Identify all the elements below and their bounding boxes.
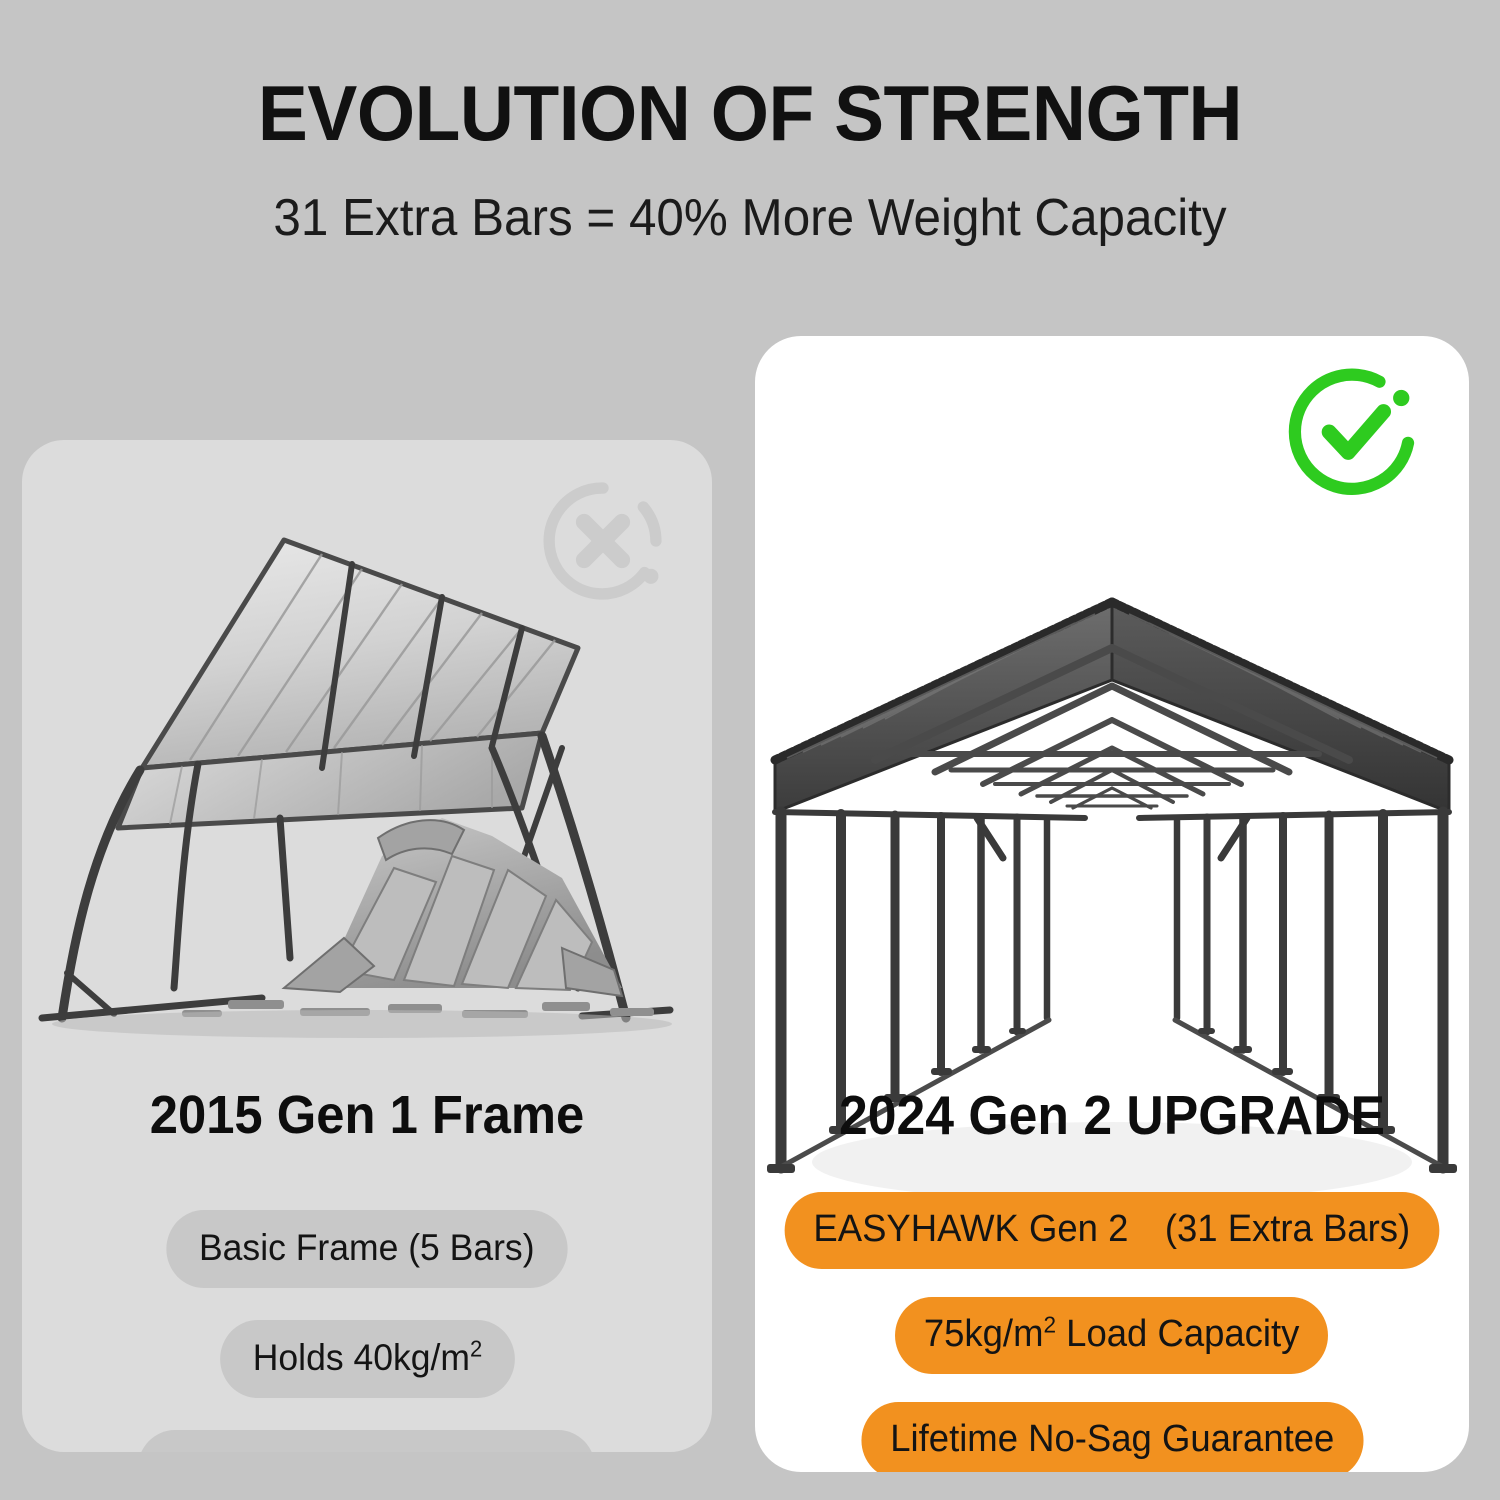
feature-chip: EASYHAWK Gen 2 (31 Extra Bars) [785, 1192, 1439, 1269]
panel-title-gen2: 2024 Gen 2 UPGRADE [776, 1088, 1447, 1143]
comparison-card-gen1: 2015 Gen 1 Frame Basic Frame (5 Bars) Ho… [22, 440, 712, 1452]
page-subtitle: 31 Extra Bars = 40% More Weight Capacity [38, 192, 1463, 244]
comparison-card-gen2: 2024 Gen 2 UPGRADE EASYHAWK Gen 2 (31 Ex… [755, 336, 1469, 1472]
feature-chip: Basic Frame (5 Bars) [167, 1210, 568, 1288]
page-header: EVOLUTION OF STRENGTH 31 Extra Bars = 40… [0, 0, 1500, 244]
check-circle-icon [1287, 364, 1423, 500]
feature-chip: Holds 40kg/m2 [220, 1320, 515, 1398]
feature-chip: 75kg/m2 Load Capacity [895, 1297, 1328, 1374]
feature-chip: Risk: Sagging Over Time [138, 1430, 596, 1452]
page-title: EVOLUTION OF STRENGTH [30, 74, 1470, 152]
feature-chip: Lifetime No-Sag Guarantee [861, 1402, 1363, 1472]
collapsed-carport-illustration [22, 518, 712, 1078]
feature-chip-list-gen1: Basic Frame (5 Bars) Holds 40kg/m2 Risk:… [22, 1210, 712, 1452]
chip-text-after: Load Capacity [1056, 1313, 1299, 1355]
panel-title-gen1: 2015 Gen 1 Frame [43, 1088, 692, 1142]
chip-text: Holds 40kg/m [252, 1337, 469, 1378]
feature-chip-list-gen2: EASYHAWK Gen 2 (31 Extra Bars) 75kg/m2 L… [755, 1192, 1469, 1472]
chip-superscript: 2 [1044, 1311, 1057, 1337]
chip-text: 75kg/m [924, 1313, 1044, 1355]
chip-superscript: 2 [469, 1336, 481, 1362]
